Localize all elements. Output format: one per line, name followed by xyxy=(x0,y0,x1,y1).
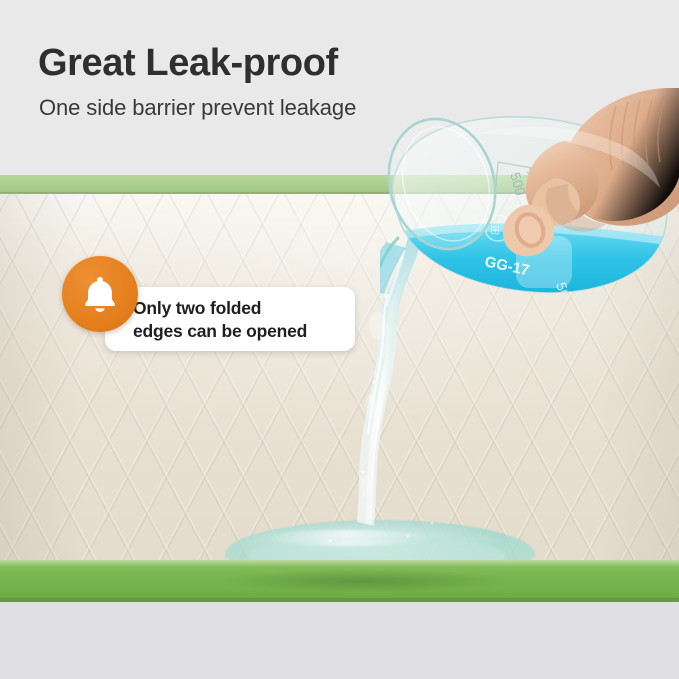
svg-text:⊞: ⊞ xyxy=(490,223,500,237)
callout-badge xyxy=(62,256,138,332)
page-title: Great Leak-proof xyxy=(38,42,338,85)
product-feature-image: Great Leak-proof One side barrier preven… xyxy=(0,0,679,679)
callout-line-1: Only two folded xyxy=(133,297,349,320)
bell-icon xyxy=(82,274,118,314)
barrier-wet-area xyxy=(215,569,515,593)
page-subtitle: One side barrier prevent leakage xyxy=(39,95,356,121)
barrier-highlight xyxy=(0,560,679,567)
callout-line-2: edges can be opened xyxy=(133,320,349,343)
callout-text: Only two folded edges can be opened xyxy=(133,297,349,343)
footer-band xyxy=(0,602,679,679)
beaker-and-hand: GG-17 500ml 500 APPROX 300 200 ⊞ xyxy=(380,88,679,354)
